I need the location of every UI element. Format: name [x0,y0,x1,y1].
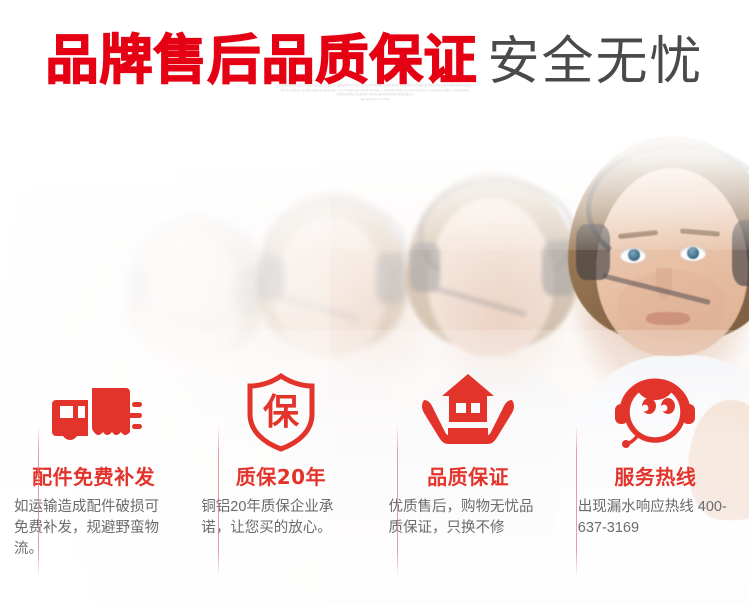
card-divider [218,425,219,577]
headline-sub-text: 安全无忧 [487,33,703,91]
card-title: 质保20年 [197,461,364,490]
card-title: 服务热线 [572,461,739,490]
shield-guarantee-icon: 保 [197,368,364,452]
card-divider [38,425,39,577]
card-title: 品质保证 [385,461,552,490]
shield-glyph: 保 [263,392,300,433]
microtext-line-4: 服务热线 400-637-3169 [280,98,470,103]
decorative-microtext: 品牌售后品质保证安全无忧售后服务承诺书本公司郑重承诺所售产品均为正品行货享受国家… [175,84,575,108]
hands-holding-house-icon [385,368,552,452]
microtext-line-1: 品牌售后品质保证安全无忧售后服务承诺书本公司郑重承诺所售产品均为正品行货享受国家… [279,84,472,87]
feature-card-hotline[interactable]: 服务热线 出现漏水响应热线 400-637-3169 [562,368,749,578]
headset-operator-icon [572,368,739,452]
card-body: 优质售后，购物无忧品质保证，只换不修 [385,497,552,539]
card-body: 出现漏水响应热线 400-637-3169 [572,497,739,539]
card-title: 配件免费补发 [10,461,177,490]
promotional-banner: 品牌售后品质保证安全无忧 品牌售后品质保证安全无忧售后服务承诺书本公司郑重承诺所… [0,0,749,604]
feature-card-list: 配件免费补发 如运输造成配件破损可免费补发，规避野蛮物流。 保 质保20年 铜铝… [0,368,749,578]
feature-card-parts-reissue[interactable]: 配件免费补发 如运输造成配件破损可免费补发，规避野蛮物流。 [0,368,187,578]
card-body: 如运输造成配件破损可免费补发，规避野蛮物流。 [10,497,177,560]
card-divider [576,425,577,577]
card-divider [397,425,398,577]
card-body: 铜铝20年质保企业承诺，让您买的放心。 [197,497,364,539]
feature-card-quality[interactable]: 品质保证 优质售后，购物无忧品质保证，只换不修 [375,368,562,578]
feature-card-warranty[interactable]: 保 质保20年 铜铝20年质保企业承诺，让您买的放心。 [187,368,374,578]
headline: 品牌售后品质保证安全无忧 [0,18,749,94]
delivery-truck-icon [10,368,177,452]
headline-main-text: 品牌售后品质保证 [45,30,477,91]
